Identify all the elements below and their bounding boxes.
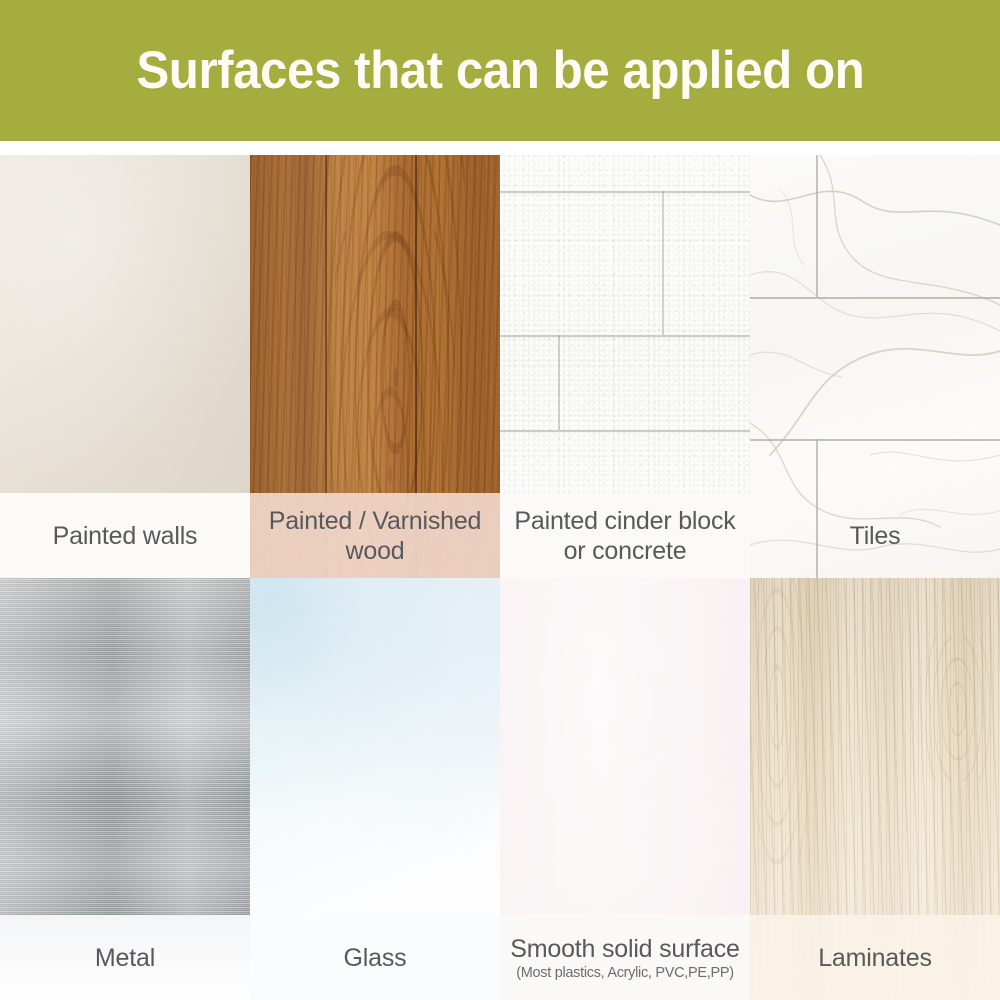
block-mortar-line: [500, 430, 750, 432]
infographic-page: Surfaces that can be applied on Painted …: [0, 0, 1000, 1000]
caption-laminates: Laminates: [750, 915, 1000, 1000]
caption-smooth-solid-surface: Smooth solid surface (Most plastics, Acr…: [500, 915, 750, 1000]
surface-cell-painted-cinder-block[interactable]: Painted cinder block or concrete: [500, 155, 750, 578]
surface-cell-tiles[interactable]: Tiles: [750, 155, 1000, 578]
tile-grout-line: [750, 439, 1000, 441]
page-title: Surfaces that can be applied on: [136, 44, 864, 97]
surface-cell-laminates[interactable]: Laminates: [750, 578, 1000, 1000]
block-mortar-line: [500, 191, 750, 193]
block-mortar-joint: [558, 335, 560, 430]
surface-sublabel: (Most plastics, Acrylic, PVC,PE,PP): [516, 965, 734, 982]
surface-cell-smooth-solid-surface[interactable]: Smooth solid surface (Most plastics, Acr…: [500, 578, 750, 1000]
surface-label: Painted walls: [53, 521, 198, 551]
caption-painted-walls: Painted walls: [0, 493, 250, 578]
surface-label: Laminates: [818, 943, 932, 973]
caption-glass: Glass: [250, 915, 500, 1000]
surface-label: Painted / Varnished wood: [256, 506, 494, 566]
surface-label: Glass: [344, 943, 407, 973]
caption-painted-cinder-block: Painted cinder block or concrete: [500, 493, 750, 578]
surface-cell-glass[interactable]: Glass: [250, 578, 500, 1000]
caption-metal: Metal: [0, 915, 250, 1000]
caption-painted-varnished-wood: Painted / Varnished wood: [250, 493, 500, 578]
tile-grout-joint: [816, 155, 818, 297]
surface-grid: Painted walls Painted / Varnished wood: [0, 155, 1000, 1000]
surface-cell-painted-varnished-wood[interactable]: Painted / Varnished wood: [250, 155, 500, 578]
tile-grout-line: [750, 297, 1000, 299]
surface-cell-painted-walls[interactable]: Painted walls: [0, 155, 250, 578]
surface-label: Painted cinder block or concrete: [506, 506, 744, 566]
header-divider: [0, 141, 1000, 155]
block-mortar-line: [500, 335, 750, 337]
surface-cell-metal[interactable]: Metal: [0, 578, 250, 1000]
header-banner: Surfaces that can be applied on: [0, 0, 1000, 141]
surface-label: Smooth solid surface: [510, 934, 739, 964]
block-mortar-joint: [662, 191, 664, 335]
surface-label: Tiles: [850, 521, 901, 551]
caption-tiles: Tiles: [750, 493, 1000, 578]
surface-label: Metal: [95, 943, 155, 973]
